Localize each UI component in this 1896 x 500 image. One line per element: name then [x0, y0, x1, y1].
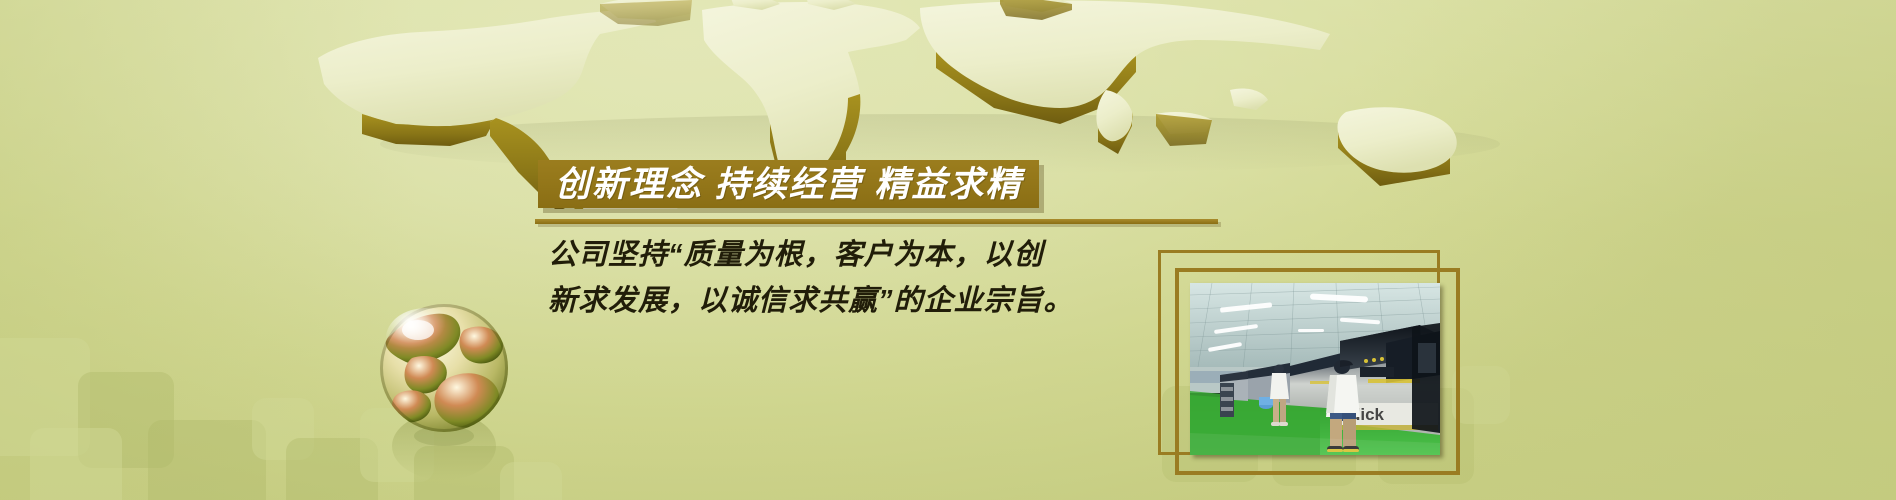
subtitle-paragraph: 公司坚持“质量为根，客户为本，以创 新求发展，以诚信求共赢”的企业宗旨。 — [548, 232, 1188, 324]
photo-frame: dick — [1158, 250, 1462, 477]
subtitle-line-1: 公司坚持“质量为根，客户为本，以创 — [548, 232, 1188, 278]
headline-band: 创新理念 持续经营 精益求精 — [538, 160, 1039, 208]
factory-workshop-photo: dick — [1190, 283, 1440, 455]
corporate-banner: 创新理念 持续经营 精益求精 公司坚持“质量为根，客户为本，以创 新求发展，以诚… — [0, 0, 1896, 500]
globe-graphic — [372, 296, 522, 496]
headline-text: 创新理念 持续经营 精益求精 — [555, 167, 1022, 202]
headline-underline — [535, 219, 1218, 224]
subtitle-line-2: 新求发展，以诚信求共赢”的企业宗旨。 — [548, 278, 1188, 324]
